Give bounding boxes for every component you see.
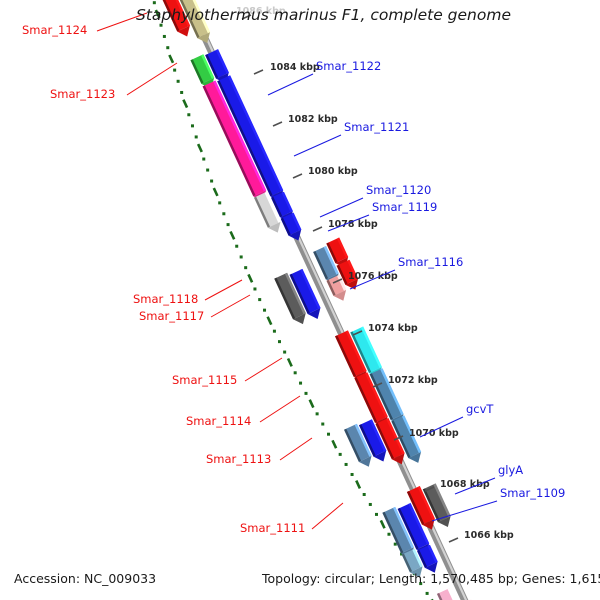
label-leader-line (280, 438, 312, 460)
ruler-tick-label: 1072 kbp (388, 375, 438, 386)
ruler-tick-label: 1074 kbp (368, 323, 418, 334)
gene-label-smar_1122[interactable]: Smar_1122 (316, 59, 381, 73)
gene-feature[interactable] (437, 588, 456, 600)
gene-label-smar_1109[interactable]: Smar_1109 (500, 486, 565, 500)
ruler-tick-label: 1070 kbp (409, 428, 459, 439)
label-leader-line (245, 358, 282, 381)
gene-label-smar_1124[interactable]: Smar_1124 (22, 23, 87, 37)
genome-map-viewport[interactable]: 1086 kbp1084 kbp1082 kbp1080 kbp1078 kbp… (0, 0, 600, 600)
label-leader-line (312, 503, 343, 529)
genome-map-canvas[interactable]: 1086 kbp1084 kbp1082 kbp1080 kbp1078 kbp… (0, 0, 600, 600)
label-leader-line (320, 198, 363, 217)
genome-summary-label: Topology: circular; Length: 1,570,485 bp… (261, 571, 600, 586)
label-leader-line (268, 74, 313, 95)
accession-label: Accession: NC_009033 (14, 571, 156, 586)
ruler-tick-mark (254, 70, 263, 74)
gene-shadow (218, 81, 271, 196)
ruler-tick-label: 1076 kbp (348, 271, 398, 282)
ruler-tick-mark (313, 227, 322, 231)
gene-label-smar_1116[interactable]: Smar_1116 (398, 255, 463, 269)
label-leader-line (294, 135, 341, 156)
gene-label-smar_1113[interactable]: Smar_1113 (206, 452, 271, 466)
ruler-tick-labels: 1086 kbp1084 kbp1082 kbp1080 kbp1078 kbp… (236, 6, 514, 542)
gene-label-smar_1123[interactable]: Smar_1123 (50, 87, 115, 101)
ruler-tick-mark (273, 122, 282, 126)
ruler-tick-label: 1068 kbp (440, 479, 490, 490)
label-leader-line (260, 396, 300, 422)
gene-label-smar_1119[interactable]: Smar_1119 (372, 200, 437, 214)
gene-label-smar_1115[interactable]: Smar_1115 (172, 373, 237, 387)
label-leader-line (211, 295, 250, 317)
gene-label-smar_1117[interactable]: Smar_1117 (139, 309, 204, 323)
ruler-tick-mark (449, 538, 458, 542)
ruler-tick-label: 1066 kbp (464, 530, 514, 541)
gene-label-smar_1111[interactable]: Smar_1111 (240, 521, 305, 535)
gene-label-smar_1121[interactable]: Smar_1121 (344, 120, 409, 134)
gene-label-gcvt[interactable]: gcvT (466, 402, 494, 416)
ruler-tick-label: 1080 kbp (308, 166, 358, 177)
ruler-tick-label: 1082 kbp (288, 114, 338, 125)
page-title: Staphylothermus marinus F1, complete gen… (136, 6, 511, 24)
label-leader-line (205, 280, 242, 300)
gene-label-smar_1114[interactable]: Smar_1114 (186, 414, 251, 428)
gene-label-glya[interactable]: glyA (498, 463, 523, 477)
label-leader-line (127, 63, 177, 95)
label-leader-lines (97, 13, 497, 529)
gene-label-smar_1118[interactable]: Smar_1118 (133, 292, 198, 306)
ruler-tick-label: 1084 kbp (270, 62, 320, 73)
ruler-tick-mark (293, 174, 302, 178)
gene-label-smar_1120[interactable]: Smar_1120 (366, 183, 431, 197)
